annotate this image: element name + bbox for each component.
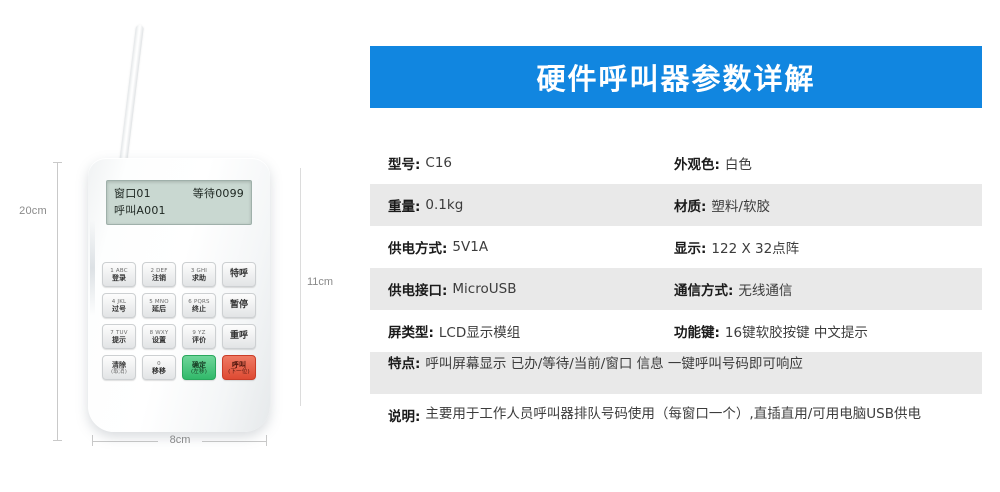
spec-cell-screen-type: 屏类型: LCD显示模组 — [388, 310, 674, 352]
product-spec-page: 20cm 11cm 8cm 窗口01 等待0099 呼叫A001 1 ABC登录… — [0, 0, 1000, 492]
key-special-call[interactable]: 特呼 — [222, 262, 256, 287]
table-row: 重量: 0.1kg 材质: 塑料/软胶 — [370, 184, 982, 226]
depth-dimension-line — [300, 168, 301, 406]
spec-cell-power-mode: 供电方式: 5V1A — [388, 226, 674, 268]
table-row-description: 说明: 主要用于工作人员呼叫器排队号码使用（每窗口一个）,直插直用/可用电脑US… — [370, 394, 982, 459]
spec-value: 0.1kg — [425, 197, 463, 213]
product-photo-panel: 20cm 11cm 8cm 窗口01 等待0099 呼叫A001 1 ABC登录… — [0, 0, 350, 492]
caller-device-body: 窗口01 等待0099 呼叫A001 1 ABC登录 2 DEF注销 3 GHI… — [88, 158, 270, 432]
table-row: 供电方式: 5V1A 显示: 122 X 32点阵 — [370, 226, 982, 268]
key-function-label: 移移 — [152, 367, 166, 375]
lcd-screen: 窗口01 等待0099 呼叫A001 — [106, 180, 252, 225]
spec-label: 显示: — [674, 237, 706, 257]
height-dimension-cap-top — [53, 162, 62, 163]
height-dimension-line — [57, 162, 58, 440]
keypad: 1 ABC登录 2 DEF注销 3 GHI求助 特呼 4 JKL过号 5 MNO… — [102, 262, 256, 380]
spec-label: 特点: — [388, 352, 420, 372]
key-function-label: 确定 — [192, 361, 206, 369]
key-confirm[interactable]: 确定(左移) — [182, 355, 216, 380]
table-row: 屏类型: LCD显示模组 功能键: 16键软胶按键 中文提示 — [370, 310, 982, 352]
width-dimension-cap-left — [92, 435, 93, 446]
key-function-label: 求助 — [192, 274, 206, 282]
spec-label: 屏类型: — [388, 321, 434, 341]
spec-value: 白色 — [725, 153, 752, 173]
spec-value: LCD显示模组 — [439, 321, 520, 341]
spec-value: 塑料/软胶 — [711, 195, 770, 215]
table-row: 型号: C16 外观色: 白色 — [370, 142, 982, 184]
spec-panel: 硬件呼叫器参数详解 型号: C16 外观色: 白色 重量: 0.1kg — [370, 0, 982, 492]
spec-label: 重量: — [388, 195, 420, 215]
spec-label: 材质: — [674, 195, 706, 215]
spec-cell-description: 说明: 主要用于工作人员呼叫器排队号码使用（每窗口一个）,直插直用/可用电脑US… — [388, 394, 982, 459]
spec-value: 16键软胶按键 中文提示 — [725, 321, 868, 341]
height-dimension-cap-bottom — [53, 440, 62, 441]
key-2-logout[interactable]: 2 DEF注销 — [142, 262, 176, 287]
spec-value: 122 X 32点阵 — [711, 237, 799, 257]
spec-table: 型号: C16 外观色: 白色 重量: 0.1kg 材质: 塑料/软胶 — [370, 142, 982, 459]
key-function-label: 清除 — [112, 361, 126, 369]
key-sub-label: (下一位) — [228, 369, 250, 375]
lcd-waiting-label: 等待0099 — [193, 185, 244, 202]
key-4-skip[interactable]: 4 JKL过号 — [102, 293, 136, 318]
spec-cell-function-keys: 功能键: 16键软胶按键 中文提示 — [674, 310, 982, 352]
width-dimension-label: 8cm — [158, 433, 202, 447]
spec-value: 5V1A — [452, 239, 488, 255]
height-dimension-label: 20cm — [10, 203, 56, 219]
spec-cell-display: 显示: 122 X 32点阵 — [674, 226, 982, 268]
depth-dimension-label: 11cm — [304, 274, 336, 290]
spec-value: MicroUSB — [452, 281, 516, 297]
key-0-shift[interactable]: 0移移 — [142, 355, 176, 380]
spec-label: 通信方式: — [674, 279, 733, 299]
spec-value: 无线通信 — [738, 279, 792, 299]
spec-label: 型号: — [388, 153, 420, 173]
key-9-rating[interactable]: 9 YZ评价 — [182, 324, 216, 349]
spec-label: 供电接口: — [388, 279, 447, 299]
key-1-login[interactable]: 1 ABC登录 — [102, 262, 136, 287]
spec-cell-color: 外观色: 白色 — [674, 142, 982, 184]
table-row-feature: 特点: 呼叫屏幕显示 已办/等待/当前/窗口 信息 一键呼叫号码即可响应 — [370, 352, 982, 394]
spec-label: 功能键: — [674, 321, 720, 341]
spec-value: 主要用于工作人员呼叫器排队号码使用（每窗口一个）,直插直用/可用电脑USB供电 — [425, 405, 921, 424]
spec-value: 呼叫屏幕显示 已办/等待/当前/窗口 信息 一键呼叫号码即可响应 — [425, 352, 803, 372]
table-row: 供电接口: MicroUSB 通信方式: 无线通信 — [370, 268, 982, 310]
key-pause[interactable]: 暂停 — [222, 293, 256, 318]
lcd-line-2: 呼叫A001 — [114, 202, 244, 219]
key-function-label: 呼叫 — [232, 361, 246, 369]
key-function-label: 设置 — [152, 336, 166, 344]
key-call[interactable]: 呼叫(下一位) — [222, 355, 256, 380]
spec-label: 供电方式: — [388, 237, 447, 257]
spec-cell-weight: 重量: 0.1kg — [388, 184, 674, 226]
key-sub-label: (取消) — [111, 369, 127, 375]
key-function-label: 特呼 — [230, 269, 248, 280]
lcd-line-1: 窗口01 等待0099 — [114, 185, 244, 202]
key-sub-label: (左移) — [191, 369, 207, 375]
spec-label: 说明: — [388, 405, 420, 425]
key-function-label: 重呼 — [230, 331, 248, 342]
key-3-help[interactable]: 3 GHI求助 — [182, 262, 216, 287]
spec-cell-model: 型号: C16 — [388, 142, 674, 184]
spec-cell-feature: 特点: 呼叫屏幕显示 已办/等待/当前/窗口 信息 一键呼叫号码即可响应 — [388, 352, 982, 394]
antenna — [118, 25, 144, 173]
spec-cell-power-port: 供电接口: MicroUSB — [388, 268, 674, 310]
key-function-label: 提示 — [112, 336, 126, 344]
key-function-label: 评价 — [192, 336, 206, 344]
spec-value: C16 — [425, 155, 452, 171]
key-function-label: 登录 — [112, 274, 126, 282]
key-clear[interactable]: 清除(取消) — [102, 355, 136, 380]
spec-cell-communication: 通信方式: 无线通信 — [674, 268, 982, 310]
key-7-hint[interactable]: 7 TUV提示 — [102, 324, 136, 349]
spec-banner: 硬件呼叫器参数详解 — [370, 46, 982, 108]
key-function-label: 延后 — [152, 305, 166, 313]
key-recall[interactable]: 重呼 — [222, 324, 256, 349]
key-5-postpone[interactable]: 5 MNO延后 — [142, 293, 176, 318]
spec-label: 外观色: — [674, 153, 720, 173]
key-8-settings[interactable]: 8 WXY设置 — [142, 324, 176, 349]
key-6-stop[interactable]: 6 PQRS终止 — [182, 293, 216, 318]
page-title: 硬件呼叫器参数详解 — [536, 56, 815, 98]
key-function-label: 过号 — [112, 305, 126, 313]
key-function-label: 注销 — [152, 274, 166, 282]
key-function-label: 终止 — [192, 305, 206, 313]
lcd-window-label: 窗口01 — [114, 185, 151, 202]
key-function-label: 暂停 — [230, 300, 248, 311]
spec-cell-material: 材质: 塑料/软胶 — [674, 184, 982, 226]
width-dimension-cap-right — [266, 435, 267, 446]
